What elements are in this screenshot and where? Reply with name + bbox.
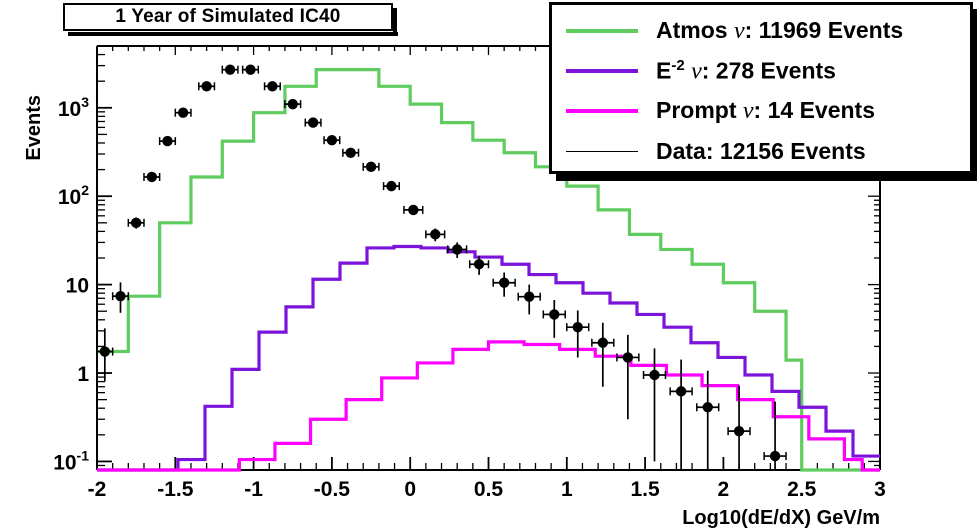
legend-item-e2-nu[interactable]: E-2 ν: 278 Events bbox=[552, 51, 970, 91]
data-point bbox=[343, 148, 359, 158]
data-marker bbox=[524, 291, 534, 301]
data-marker bbox=[225, 64, 235, 74]
data-marker bbox=[178, 108, 188, 118]
x-tick-label: -0.5 bbox=[314, 478, 351, 501]
data-marker bbox=[245, 64, 255, 74]
data-marker bbox=[147, 172, 157, 182]
data-point bbox=[175, 108, 191, 118]
data-marker bbox=[703, 402, 713, 412]
data-marker bbox=[308, 117, 318, 127]
y-axis-title: Events bbox=[23, 95, 45, 161]
data-marker bbox=[366, 162, 376, 172]
title-box-shadow-bottom bbox=[68, 32, 398, 36]
data-point bbox=[470, 256, 489, 275]
page-title: 1 Year of Simulated IC40 bbox=[115, 6, 340, 28]
legend-label-atmos-nu: Atmos ν: 11969 Events bbox=[656, 17, 903, 45]
legend-swatch-atmos-nu bbox=[566, 29, 638, 33]
data-point bbox=[265, 81, 281, 91]
data-marker bbox=[499, 278, 509, 288]
data-point bbox=[144, 172, 160, 182]
y-tick-label: 10 bbox=[66, 275, 89, 298]
chart-legend: Atmos ν: 11969 EventsE-2 ν: 278 EventsPr… bbox=[549, 2, 973, 174]
data-point bbox=[285, 99, 301, 109]
y-tick-label: 103 bbox=[58, 94, 89, 121]
x-axis-title: Log10(dE/dX) GeV/m bbox=[682, 507, 880, 529]
x-tick-label: 2.5 bbox=[787, 478, 817, 501]
data-marker bbox=[734, 426, 744, 436]
data-point bbox=[160, 136, 176, 146]
data-point bbox=[324, 135, 340, 145]
data-point bbox=[243, 64, 259, 74]
data-point bbox=[363, 162, 379, 172]
data-point bbox=[426, 229, 445, 242]
legend-label-data: Data: 12156 Events bbox=[656, 138, 866, 165]
y-tick-label: 1 bbox=[77, 363, 89, 386]
legend-swatch-data bbox=[566, 151, 638, 152]
data-point bbox=[305, 117, 321, 127]
data-point bbox=[764, 402, 786, 470]
y-tick-label: 102 bbox=[58, 182, 89, 209]
data-marker bbox=[649, 370, 659, 380]
x-tick-label: 0 bbox=[404, 478, 416, 501]
legend-shadow-right bbox=[973, 9, 977, 181]
data-marker bbox=[474, 259, 484, 269]
plot-root: 1 Year of Simulated IC40 -2-1.5-1-0.500.… bbox=[0, 0, 977, 529]
data-marker bbox=[573, 322, 583, 332]
data-marker bbox=[162, 136, 172, 146]
title-box-shadow-right bbox=[393, 8, 397, 36]
data-marker bbox=[598, 338, 608, 348]
data-marker bbox=[452, 244, 462, 254]
series-line-e2 bbox=[97, 246, 880, 470]
data-marker bbox=[115, 291, 125, 301]
data-point bbox=[448, 242, 467, 258]
x-tick-label: 2 bbox=[718, 478, 730, 501]
legend-label-e2-nu: E-2 ν: 278 Events bbox=[656, 57, 836, 86]
legend-item-atmos-nu[interactable]: Atmos ν: 11969 Events bbox=[552, 11, 970, 51]
data-marker bbox=[267, 81, 277, 91]
data-point bbox=[113, 282, 129, 312]
data-marker bbox=[676, 386, 686, 396]
data-point bbox=[222, 64, 238, 74]
legend-label-prompt-nu: Prompt ν: 14 Events bbox=[656, 97, 875, 125]
data-point bbox=[384, 181, 400, 191]
data-marker bbox=[770, 451, 780, 461]
data-marker bbox=[201, 81, 211, 91]
data-point bbox=[617, 335, 639, 419]
data-point bbox=[128, 217, 144, 228]
data-marker bbox=[430, 229, 440, 239]
title-box: 1 Year of Simulated IC40 bbox=[63, 3, 393, 31]
y-tick-label: 10-1 bbox=[53, 447, 89, 474]
data-marker bbox=[288, 99, 298, 109]
x-tick-label: 1.5 bbox=[630, 478, 660, 501]
x-tick-label: -1 bbox=[244, 478, 263, 501]
x-tick-label: -1.5 bbox=[157, 478, 194, 501]
data-marker bbox=[327, 135, 337, 145]
legend-item-data[interactable]: Data: 12156 Events bbox=[552, 131, 970, 171]
x-tick-label: 1 bbox=[561, 478, 573, 501]
data-marker bbox=[408, 205, 418, 215]
legend-shadow-bottom bbox=[556, 174, 977, 181]
data-point bbox=[199, 81, 215, 91]
x-tick-label: 0.5 bbox=[474, 478, 504, 501]
data-marker bbox=[100, 346, 110, 356]
data-marker bbox=[386, 181, 396, 191]
x-tick-label: 3 bbox=[874, 478, 886, 501]
data-marker bbox=[549, 309, 559, 319]
legend-item-prompt-nu[interactable]: Prompt ν: 14 Events bbox=[552, 91, 970, 131]
data-point bbox=[543, 300, 565, 338]
legend-swatch-e2-nu bbox=[566, 69, 638, 73]
data-point bbox=[493, 273, 515, 297]
data-marker bbox=[131, 218, 141, 228]
data-point bbox=[404, 205, 423, 215]
data-point bbox=[518, 285, 540, 315]
x-tick-label: -2 bbox=[88, 478, 107, 501]
data-marker bbox=[345, 148, 355, 158]
data-marker bbox=[623, 352, 633, 362]
legend-swatch-prompt-nu bbox=[566, 109, 638, 113]
